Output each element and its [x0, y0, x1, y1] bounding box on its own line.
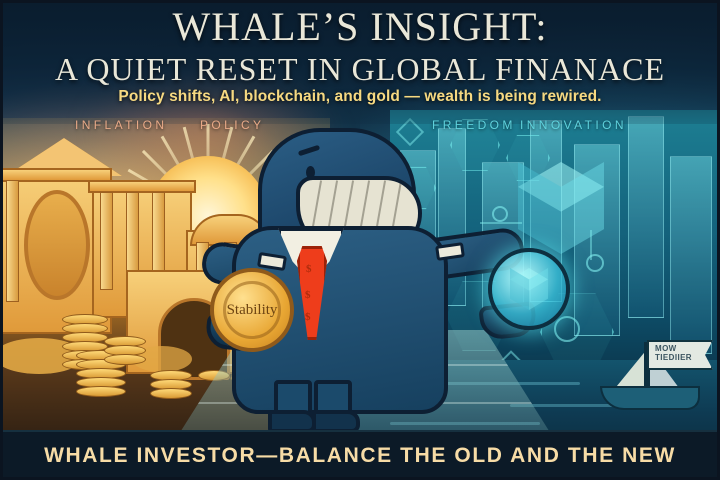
keyword-tag-policy: POLICY — [200, 118, 264, 132]
bottom-banner: WHALE INVESTOR—BALANCE THE OLD AND THE N… — [0, 430, 720, 480]
poster-subtitle: Policy shifts, AI, blockchain, and gold … — [0, 88, 720, 106]
keyword-tag-innovation: INNOVATION — [520, 118, 627, 132]
tie-dollar-3: $ — [305, 311, 311, 323]
tie-dollar-1: $ — [306, 263, 312, 275]
bottom-banner-text: WHALE INVESTOR—BALANCE THE OLD AND THE N… — [44, 444, 676, 468]
poster-canvas: MOW TIEDIIER $ $ $ — [0, 0, 720, 480]
boat-hull — [600, 386, 700, 410]
poster-title-line-2: A QUIET RESET IN GLOBAL FINANACE — [0, 52, 720, 86]
whale-character: $ $ $ Stability — [196, 128, 526, 438]
tech-tower-6 — [628, 116, 664, 318]
tech-tower-7 — [670, 156, 712, 354]
bank-column-1 — [6, 180, 19, 302]
vault-door-oval — [24, 190, 90, 300]
whale-legs — [274, 380, 348, 424]
keyword-tag-freedom: FREEDOM — [432, 118, 516, 132]
boat-mast — [644, 342, 647, 388]
circuit-node-1 — [586, 254, 604, 272]
orb-cube-icon — [510, 268, 548, 310]
circuit-wire-2 — [590, 230, 592, 260]
bank-column-3 — [100, 192, 113, 290]
coin-label: Stability — [227, 302, 278, 319]
boat-flag-text: MOW TIEDIIER — [655, 344, 707, 362]
coin-stack-4 — [150, 370, 190, 402]
circuit-node-2 — [554, 316, 580, 342]
tie-dollar-2: $ — [305, 289, 311, 301]
gold-coin-stability: Stability — [210, 268, 294, 352]
coin-stack-3 — [104, 336, 144, 376]
poster-title-line-1: WHALE’S INSIGHT: — [0, 6, 720, 48]
whale-brow — [298, 145, 320, 157]
blockchain-orb — [488, 248, 570, 330]
boat-flag: MOW TIEDIIER — [647, 340, 713, 370]
keyword-tag-row: INFLATIONPOLICYFREEDOMINNOVATION — [0, 118, 720, 138]
keyword-tag-inflation: INFLATION — [75, 118, 167, 132]
sailboat: MOW TIEDIIER — [598, 338, 708, 413]
